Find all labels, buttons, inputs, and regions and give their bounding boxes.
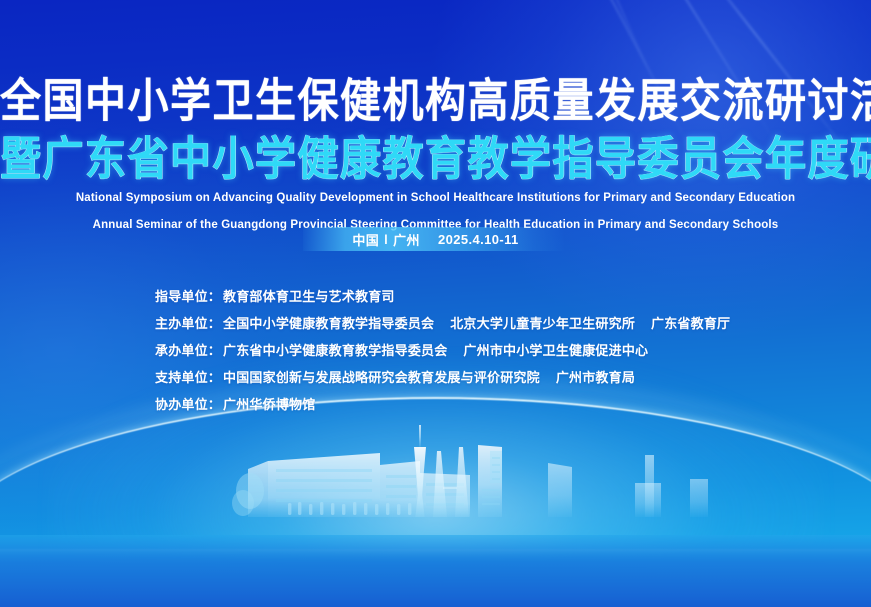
organizer-values: 教育部体育卫生与艺术教育司 [223,288,395,306]
organizer-value: 教育部体育卫生与艺术教育司 [223,288,395,306]
event-bar-text: 中国 l 广州 2025.4.10-11 [0,227,871,251]
title-block: 全国中小学卫生保健机构高质量发展交流研讨活动 暨广东省中小学健康教育教学指导委员… [0,74,871,233]
organizer-row: 主办单位： 全国中小学健康教育教学指导委员会 北京大学儿童青少年卫生研究所 广东… [155,315,730,333]
organizer-value: 广州市教育局 [556,369,635,387]
event-bar: 中国 l 广州 2025.4.10-11 [0,227,871,251]
organizer-values: 广东省中小学健康教育教学指导委员会 广州市中小学卫生健康促进中心 [223,342,648,360]
organizer-list: 指导单位： 教育部体育卫生与艺术教育司 主办单位： 全国中小学健康教育教学指导委… [155,288,730,423]
poster-content: 全国中小学卫生保健机构高质量发展交流研讨活动 暨广东省中小学健康教育教学指导委员… [0,0,871,607]
page-title-primary: 全国中小学卫生保健机构高质量发展交流研讨活动 [0,74,871,128]
event-date: 2025.4.10-11 [438,232,519,247]
event-country: 中国 [352,230,379,249]
organizer-value: 广东省中小学健康教育教学指导委员会 [223,342,447,360]
event-location: 中国 l 广州 [352,230,420,249]
organizer-values: 中国国家创新与发展战略研究会教育发展与评价研究院 广州市教育局 [223,369,635,387]
organizer-value: 全国中小学健康教育教学指导委员会 [223,315,434,333]
organizer-values: 广州华侨博物馆 [223,396,315,414]
organizer-value: 北京大学儿童青少年卫生研究所 [450,315,635,333]
subtitle-english-line1: National Symposium on Advancing Quality … [0,191,871,207]
organizer-row: 承办单位： 广东省中小学健康教育教学指导委员会 广州市中小学卫生健康促进中心 [155,342,730,360]
organizer-label: 指导单位： [155,288,221,306]
organizer-row: 指导单位： 教育部体育卫生与艺术教育司 [155,288,730,306]
organizer-value: 广州华侨博物馆 [223,396,315,414]
organizer-label: 主办单位： [155,315,221,333]
event-city: 广州 [393,230,420,249]
organizer-value: 广东省教育厅 [651,315,730,333]
organizer-row: 支持单位： 中国国家创新与发展战略研究会教育发展与评价研究院 广州市教育局 [155,369,730,387]
organizer-label: 支持单位： [155,369,221,387]
organizer-label: 承办单位： [155,342,221,360]
organizer-label: 协办单位： [155,396,221,414]
event-separator: l [384,232,388,247]
organizer-value: 广州市中小学卫生健康促进中心 [463,342,648,360]
page-title-secondary: 暨广东省中小学健康教育教学指导委员会年度研讨活动 [0,132,871,186]
conference-poster: 全国中小学卫生保健机构高质量发展交流研讨活动 暨广东省中小学健康教育教学指导委员… [0,0,871,607]
organizer-row: 协办单位： 广州华侨博物馆 [155,396,730,414]
organizer-values: 全国中小学健康教育教学指导委员会 北京大学儿童青少年卫生研究所 广东省教育厅 [223,315,730,333]
organizer-value: 中国国家创新与发展战略研究会教育发展与评价研究院 [223,369,540,387]
